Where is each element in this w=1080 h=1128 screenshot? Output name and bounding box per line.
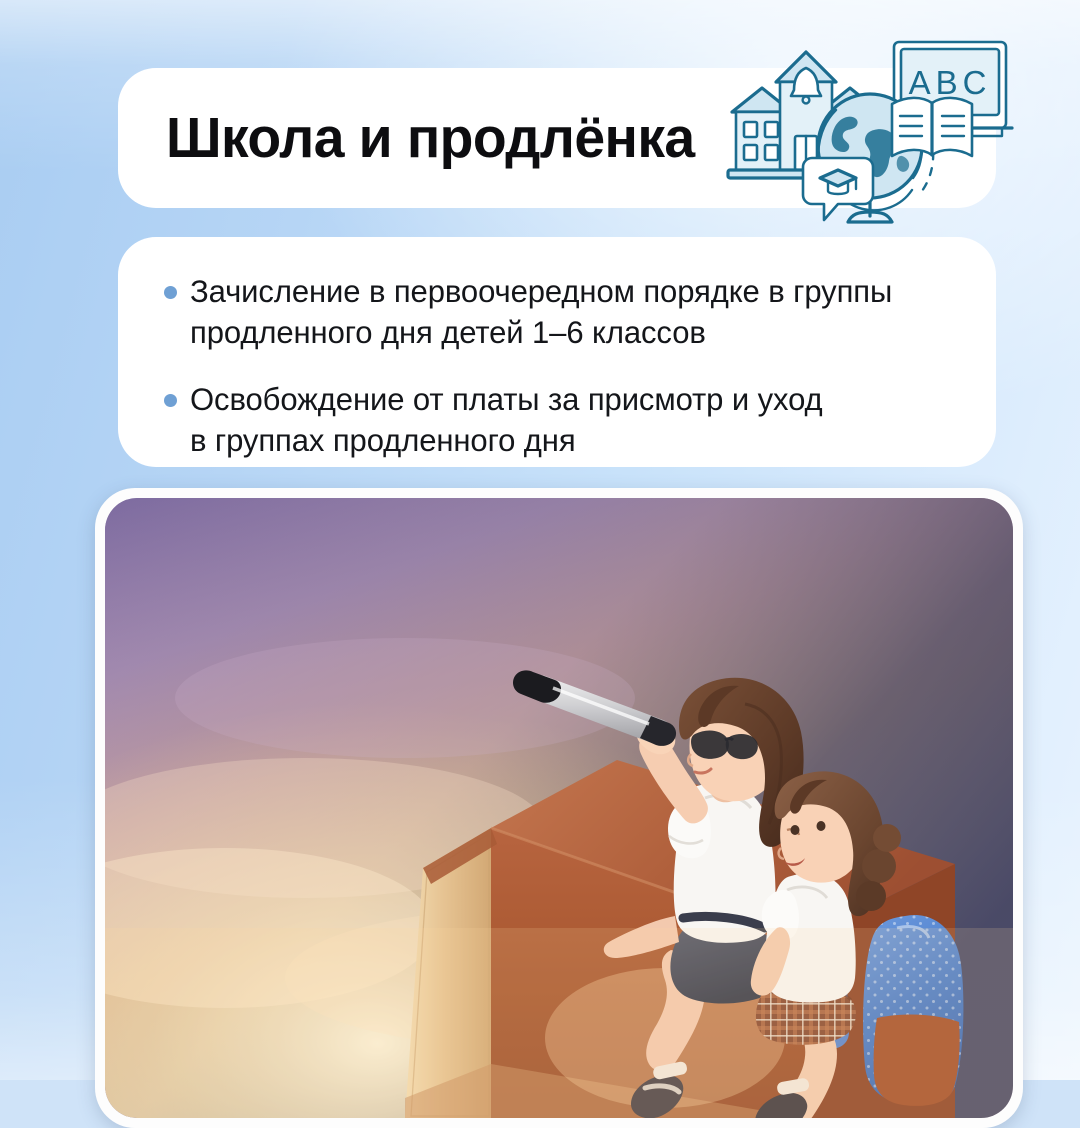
title-card: Школа и продлёнка — [118, 68, 996, 208]
benefit-line: Зачисление в первоочередном порядке в гр… — [190, 271, 892, 312]
benefit-text: Зачисление в первоочередном порядке в гр… — [190, 271, 892, 353]
benefit-line: продленного дня детей 1–6 классов — [190, 312, 892, 353]
photo-card — [95, 488, 1023, 1128]
bullet-dot-icon — [164, 394, 177, 407]
bullet-dot-icon — [164, 286, 177, 299]
page-title: Школа и продлёнка — [166, 110, 695, 167]
list-item: Освобождение от платы за присмотр и уход… — [164, 379, 950, 461]
benefit-line: Освобождение от платы за присмотр и уход — [190, 379, 823, 420]
benefits-list-card: Зачисление в первоочередном порядке в гр… — [118, 237, 996, 467]
photo-image — [105, 498, 1013, 1118]
benefit-text: Освобождение от платы за присмотр и уход… — [190, 379, 823, 461]
benefit-line: в группах продленного дня — [190, 420, 823, 461]
list-item: Зачисление в первоочередном порядке в гр… — [164, 271, 950, 353]
